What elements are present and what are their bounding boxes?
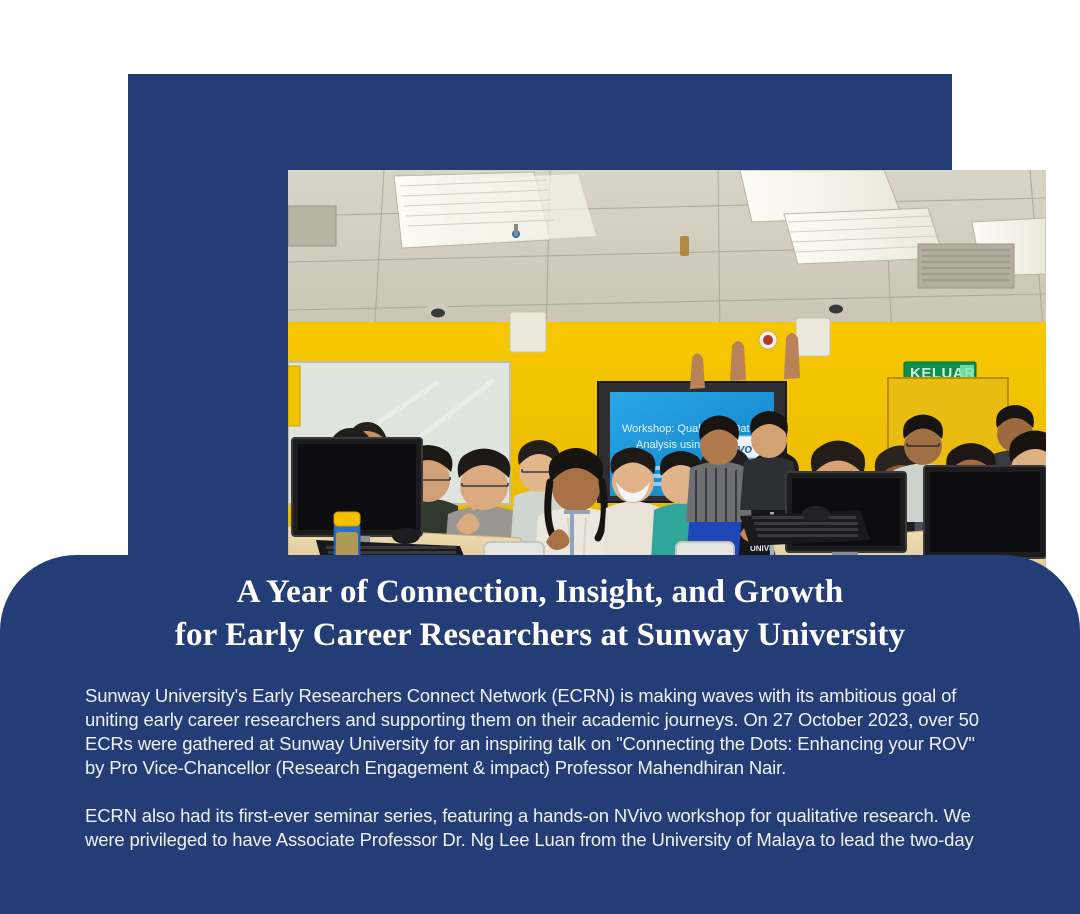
poster-root: KELUAR Workshop: Qualitative Data — [0, 0, 1080, 914]
group-photo: KELUAR Workshop: Qualitative Data — [288, 170, 1046, 616]
headline-line-2: for Early Career Researchers at Sunway U… — [0, 614, 1080, 657]
svg-text:Analysis using: Analysis using — [636, 439, 706, 451]
article-paragraph-2: ECRN also had its first-ever seminar ser… — [85, 804, 997, 852]
text-panel: A Year of Connection, Insight, and Growt… — [0, 555, 1080, 914]
group-photo-illustration: KELUAR Workshop: Qualitative Data — [288, 170, 1046, 616]
article-paragraph-1: Sunway University's Early Researchers Co… — [85, 684, 997, 780]
page-title: A Year of Connection, Insight, and Growt… — [0, 571, 1080, 657]
photo-navy-frame: KELUAR Workshop: Qualitative Data — [128, 74, 952, 574]
headline-line-1: A Year of Connection, Insight, and Growt… — [237, 574, 844, 610]
article-body: Sunway University's Early Researchers Co… — [85, 684, 997, 852]
